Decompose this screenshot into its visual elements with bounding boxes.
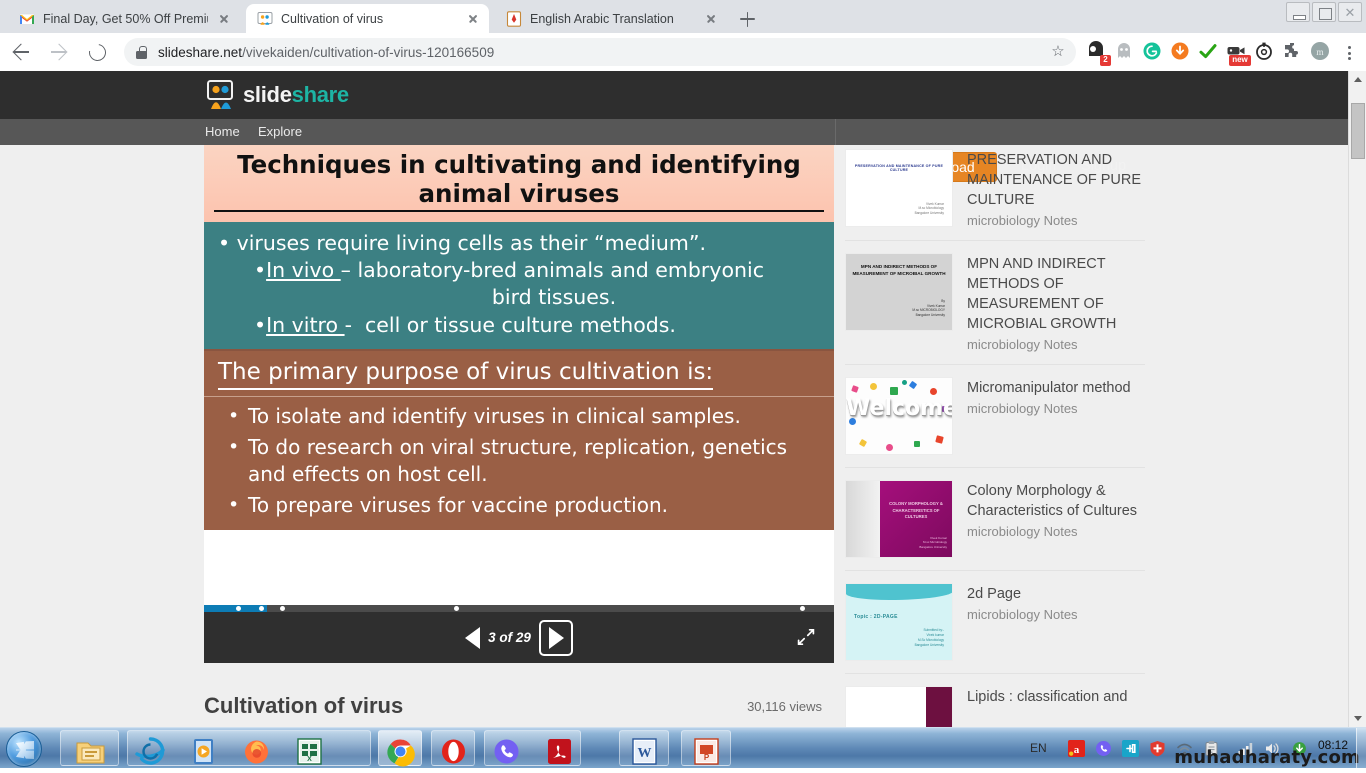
deck-title-row: Cultivation of virus 30,116 views [204,693,836,727]
list-item-meta: Colony Morphology & Characteristics of C… [967,480,1145,539]
watermark: muhadharaty.com [1174,747,1360,768]
slide-player-bar: 3 of 29 [204,605,834,663]
media-player-icon[interactable] [187,735,220,768]
related-decks-rail: PRESERVATION AND MAINTENANCE OF PURE CUL… [845,145,1145,727]
stopwatch-extension-icon[interactable] [1252,39,1278,65]
slide-brown-bullet-3: To prepare viruses for vaccine productio… [218,492,820,519]
adblock-badge: 2 [1100,55,1111,66]
preservation-thumbnail: PRESERVATION AND MAINTENANCE OF PURE CUL… [845,149,953,227]
video-downloader-badge: new [1229,55,1251,66]
taskbar-pinned-group-6: P [681,730,731,766]
list-item-author: microbiology Notes [967,607,1145,622]
window-controls: ✕ [1286,2,1362,22]
firefox-icon[interactable] [240,735,273,768]
next-slide-icon [549,627,564,649]
browser-tab-3[interactable]: English Arabic Translation [495,4,727,33]
taskbar-pinned-group-2: X [127,730,371,766]
puzzle-extensions-icon[interactable] [1280,39,1306,65]
list-item-title: Lipids : classification and [967,687,1145,707]
list-item[interactable]: Lipids : classification and [845,674,1145,727]
adblock-extension-icon[interactable]: 2 [1084,39,1110,65]
scroll-down-icon[interactable] [1349,709,1366,727]
list-item[interactable]: Welcome Micromanipulator method microbio… [845,365,1145,468]
taskbar-pinned-group-5: W [619,730,669,766]
mpn-thumbnail: MPN AND INDIRECT METHODS OF MEASUREMENT … [845,253,953,331]
thumbnail-byline: Vivek KumarM.sc MicrobiologyBangalore Un… [915,202,944,216]
checkmark-extension-icon[interactable] [1196,39,1222,65]
slide-progress-track[interactable] [204,605,834,612]
slide-progress-dot[interactable] [454,606,459,611]
slide-brown-bullet-2: To do research on viral structure, repli… [218,434,820,489]
2d-page-thumbnail: Topic : 2D-PAGE Submitted by:-Vivek kuma… [845,583,953,661]
thumbnail-title: Topic : 2D-PAGE [854,614,898,620]
thumbnail-byline: Vivek KumarM.sc MicrobiologyBangalore Un… [919,536,947,550]
file-explorer-icon[interactable] [74,735,107,768]
minimize-icon[interactable] [1286,2,1310,22]
list-item[interactable]: Topic : 2D-PAGE Submitted by:-Vivek kuma… [845,571,1145,674]
address-bar[interactable]: slideshare.net/vivekaiden/cultivation-of… [124,38,1076,66]
opera-icon[interactable] [437,735,470,768]
slide-teal-section: • viruses require living cells as their … [204,222,834,349]
slideshare-logo[interactable]: slideshare [205,80,349,110]
adobe-reader-icon[interactable] [543,735,576,768]
viber-tray-icon[interactable] [1095,740,1112,757]
list-item[interactable]: PRESERVATION AND MAINTENANCE OF PURE CUL… [845,145,1145,241]
address-bar-url: slideshare.net/vivekaiden/cultivation-of… [158,45,494,60]
chrome-icon[interactable] [384,735,417,768]
slide-progress-dot[interactable] [280,606,285,611]
slideshare-logo-icon [205,80,236,110]
list-item-meta: MPN AND INDIRECT METHODS OF MEASUREMENT … [967,253,1145,352]
list-item-meta: PRESERVATION AND MAINTENANCE OF PURE CUL… [967,149,1145,228]
list-item-title: Micromanipulator method [967,378,1145,398]
nav-item-explore[interactable]: Explore [258,124,302,139]
main-content-column: Techniques in cultivating and identifyin… [204,145,836,727]
list-item-author: microbiology Notes [967,524,1145,539]
language-indicator[interactable]: EN [1030,741,1047,755]
three-dots-menu-icon[interactable] [1336,39,1362,65]
svg-text:m: m [1316,48,1324,58]
list-item-author: microbiology Notes [967,213,1145,228]
slide-brown-section: To isolate and identify viruses in clini… [204,396,834,530]
list-item-title: 2d Page [967,584,1145,604]
list-item[interactable]: COLONY MORPHOLOGY & CHARACTERISTICS OF C… [845,468,1145,571]
ghostery-extension-icon[interactable] [1112,39,1138,65]
browser-tab-3-title: English Arabic Translation [530,11,695,27]
translate-icon [506,11,522,27]
list-item-title: MPN AND INDIRECT METHODS OF MEASUREMENT … [967,254,1145,334]
excel-icon[interactable]: X [293,735,326,768]
video-downloader-extension-icon[interactable]: new [1224,39,1250,65]
slide-teal-line-3: bird tissues. [216,284,822,311]
system-tray: EN a 08:12 muhadharaty.com [990,728,1366,769]
reload-button[interactable] [80,35,114,69]
lock-icon [136,46,147,59]
action-center-icon[interactable] [1149,740,1166,757]
taskbar-pinned-group-3 [431,730,475,766]
welcome-thumbnail: Welcome [845,377,953,455]
gmail-icon [19,11,35,27]
show-desktop-button[interactable] [1356,728,1366,769]
svg-text:X: X [307,756,312,763]
powerpoint-icon[interactable]: P [690,735,723,768]
browser-tab-2-close-icon[interactable] [465,11,481,27]
list-item-meta: Micromanipulator method microbiology Not… [967,377,1145,416]
list-item-title: PRESERVATION AND MAINTENANCE OF PURE CUL… [967,150,1145,210]
slide-title-text: Techniques in cultivating and identifyin… [214,151,824,212]
list-item-author: microbiology Notes [967,337,1145,352]
thumbnail-title: MPN AND INDIRECT METHODS OF MEASUREMENT … [851,264,947,278]
page-viewport: slideshare Upload Login Signup Home Expl… [0,71,1366,727]
avira-antivirus-icon[interactable]: a [1068,740,1085,757]
thumbnail-title: Welcome [846,396,953,421]
windows-taskbar: X W P [0,727,1366,768]
browser-tab-1-title: Final Day, Get 50% Off Premium [43,11,208,27]
slide-title-band: Techniques in cultivating and identifyin… [204,145,834,222]
extensions-tray: 2 new [1084,39,1366,65]
slide-progress-dot[interactable] [259,606,264,611]
player-controls: 3 of 29 [204,612,834,663]
page-scrollbar[interactable] [1348,71,1366,727]
browser-tab-1[interactable]: Final Day, Get 50% Off Premium [8,4,240,33]
slide-brown-heading-text: The primary purpose of virus cultivation… [218,359,713,391]
slideshare-icon [257,11,273,27]
browser-tab-2[interactable]: Cultivation of virus [246,4,489,33]
taskbar-pinned-group-1 [60,730,119,766]
close-icon[interactable]: ✕ [1338,2,1362,22]
lipids-thumbnail [845,686,953,727]
svg-text:W: W [638,746,652,761]
browser-tab-1-close-icon[interactable] [216,11,232,27]
taskbar-pinned-group-4 [484,730,581,766]
taskbar-active-window-chrome [378,730,422,766]
internet-explorer-icon[interactable] [134,735,167,768]
browser-tab-2-title: Cultivation of virus [281,11,457,27]
nav-item-home[interactable]: Home [205,124,240,139]
page-title: Cultivation of virus [204,693,403,719]
slide-brown-heading-band: The primary purpose of virus cultivation… [204,349,834,397]
idm-tray-icon[interactable] [1122,740,1139,757]
slideshare-header: slideshare [0,71,1348,119]
scrollbar-thumb[interactable] [1351,103,1365,159]
word-icon[interactable]: W [628,735,661,768]
list-item-author: microbiology Notes [967,401,1145,416]
slide-progress-dot[interactable] [236,606,241,611]
list-item-meta: Lipids : classification and [967,686,1145,710]
thumbnail-byline: Submitted by:-Vivek kumarM.Sc Microbiolo… [915,628,944,649]
star-icon[interactable]: ☆ [1050,44,1066,60]
slide-viewer[interactable]: Techniques in cultivating and identifyin… [204,145,834,605]
slide-brown-bullet-1: To isolate and identify viruses in clini… [218,403,820,430]
site-nav: Home Explore [0,119,1348,145]
thumbnail-byline: ByVivek KumarM.sc MICROBIOLOGYBangalore … [912,299,945,318]
fullscreen-icon[interactable] [796,627,816,647]
thumbnail-title: COLONY MORPHOLOGY & CHARACTERISTICS OF C… [884,501,948,521]
view-count: 30,116 views [747,699,822,714]
list-item[interactable]: MPN AND INDIRECT METHODS OF MEASUREMENT … [845,241,1145,365]
grammarly-extension-icon[interactable] [1140,39,1166,65]
slideshare-logo-text: slideshare [243,82,349,108]
new-tab-button[interactable] [735,8,761,30]
slide-teal-line-1: • viruses require living cells as their … [216,230,822,257]
svg-text:P: P [704,753,710,762]
forward-button[interactable] [42,35,76,69]
previous-slide-icon[interactable] [465,627,480,649]
browser-window: Final Day, Get 50% Off Premium Cultivati… [0,0,1366,727]
slide-teal-line-2: •In vivo – laboratory-bred animals and e… [216,257,822,284]
thumbnail-title: PRESERVATION AND MAINTENANCE OF PURE CUL… [852,164,946,172]
slide-counter: 3 of 29 [488,630,531,645]
slide-progress-dot[interactable] [800,606,805,611]
idm-extension-icon[interactable] [1168,39,1194,65]
slide-teal-line-4: •In vitro - cell or tissue culture metho… [216,312,822,339]
svg-text:a: a [1074,744,1080,756]
maximize-icon[interactable] [1312,2,1336,22]
windows-start-orb-icon[interactable] [6,731,42,767]
profile-avatar-icon[interactable]: m [1308,39,1334,65]
back-button[interactable] [4,35,38,69]
list-item-meta: 2d Page microbiology Notes [967,583,1145,622]
browser-toolbar: slideshare.net/vivekaiden/cultivation-of… [0,33,1366,71]
tab-strip: Final Day, Get 50% Off Premium Cultivati… [0,0,1366,33]
scroll-up-icon[interactable] [1349,71,1366,89]
browser-tab-3-close-icon[interactable] [703,11,719,27]
list-item-title: Colony Morphology & Characteristics of C… [967,481,1145,521]
viber-icon[interactable] [490,735,523,768]
next-slide-button[interactable] [539,620,573,656]
colony-morphology-thumbnail: COLONY MORPHOLOGY & CHARACTERISTICS OF C… [845,480,953,558]
